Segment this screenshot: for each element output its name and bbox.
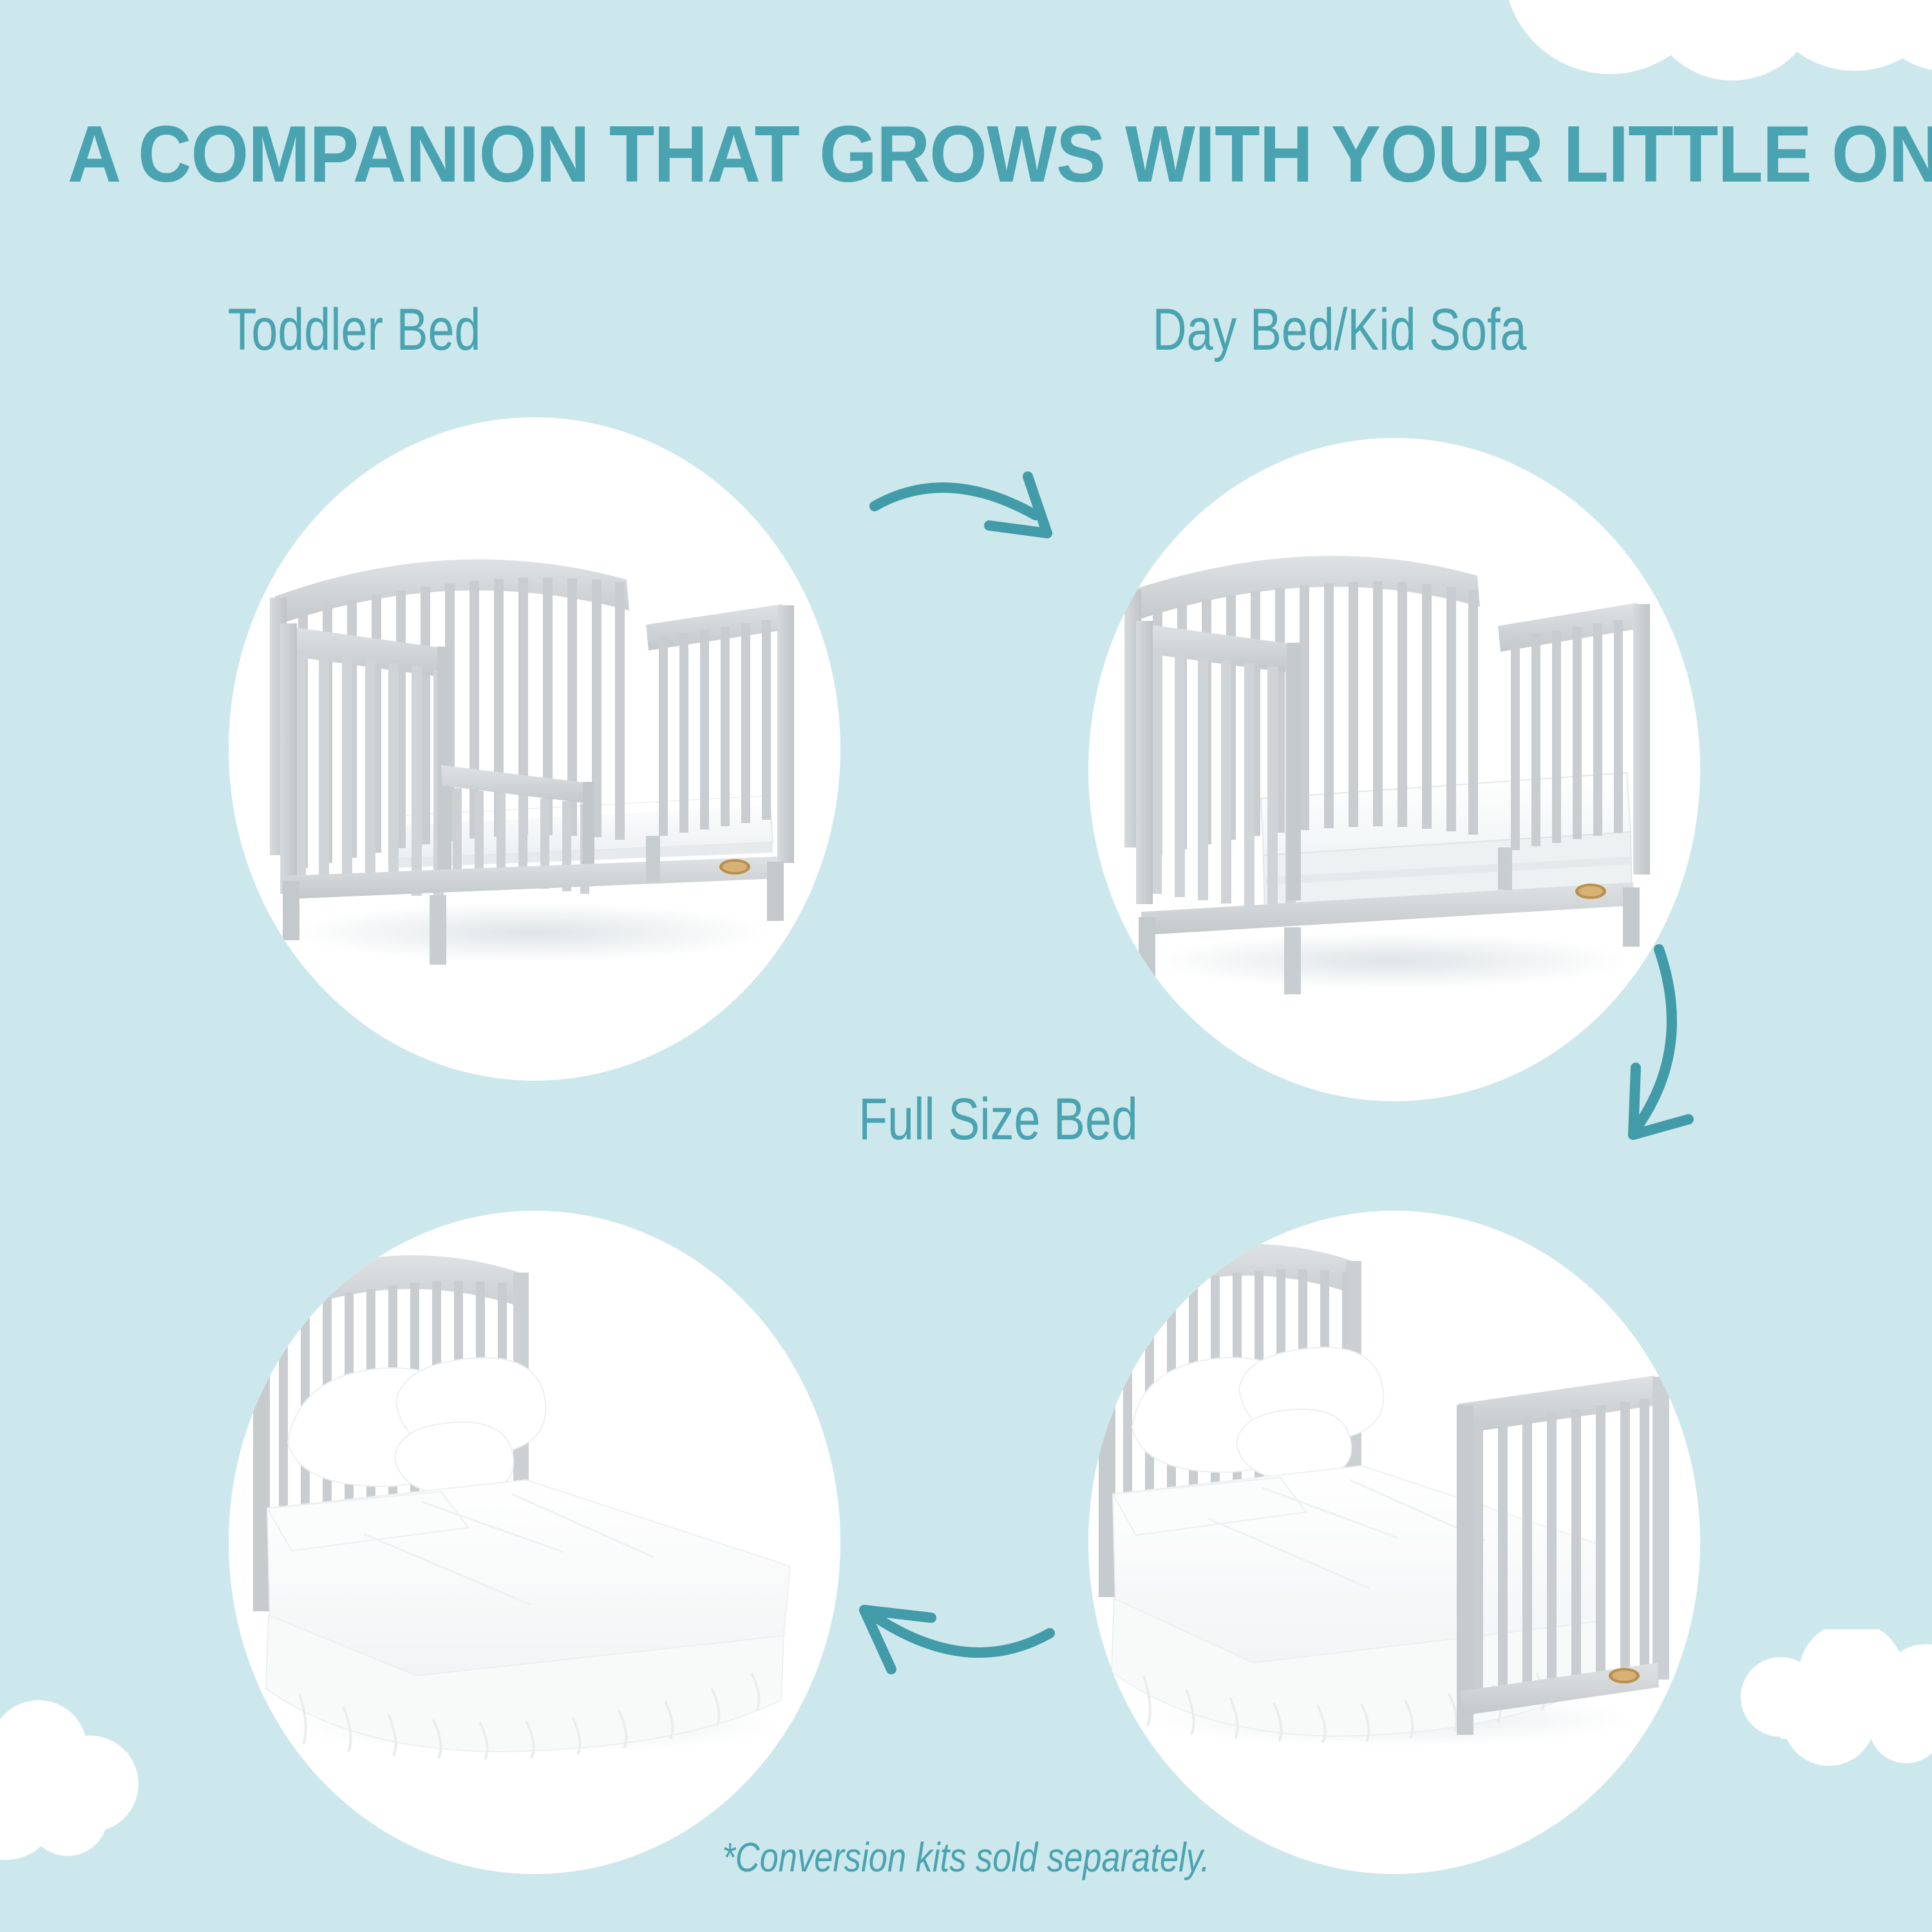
- cloud-icon-bottom-right: [1713, 1629, 1932, 1797]
- panel-label-toddler-bed: Toddler Bed: [71, 300, 638, 359]
- product-image-full-size-bed-headboard-footboard: [1088, 1211, 1700, 1874]
- product-image-full-size-bed-headboard: [229, 1211, 840, 1874]
- curved-arrow-left-icon: [837, 1578, 1121, 1726]
- infographic-canvas: A COMPANION THAT GROWS WITH YOUR LITTLE …: [0, 0, 1932, 1932]
- product-image-day-bed: [1088, 438, 1700, 1101]
- page-title: A COMPANION THAT GROWS WITH YOUR LITTLE …: [68, 115, 1864, 194]
- footnote-text: *Conversion kits sold separately.: [174, 1837, 1758, 1878]
- product-image-toddler-bed: [229, 417, 840, 1081]
- panel-label-day-bed: Day Bed/Kid Sofa: [1030, 300, 1649, 359]
